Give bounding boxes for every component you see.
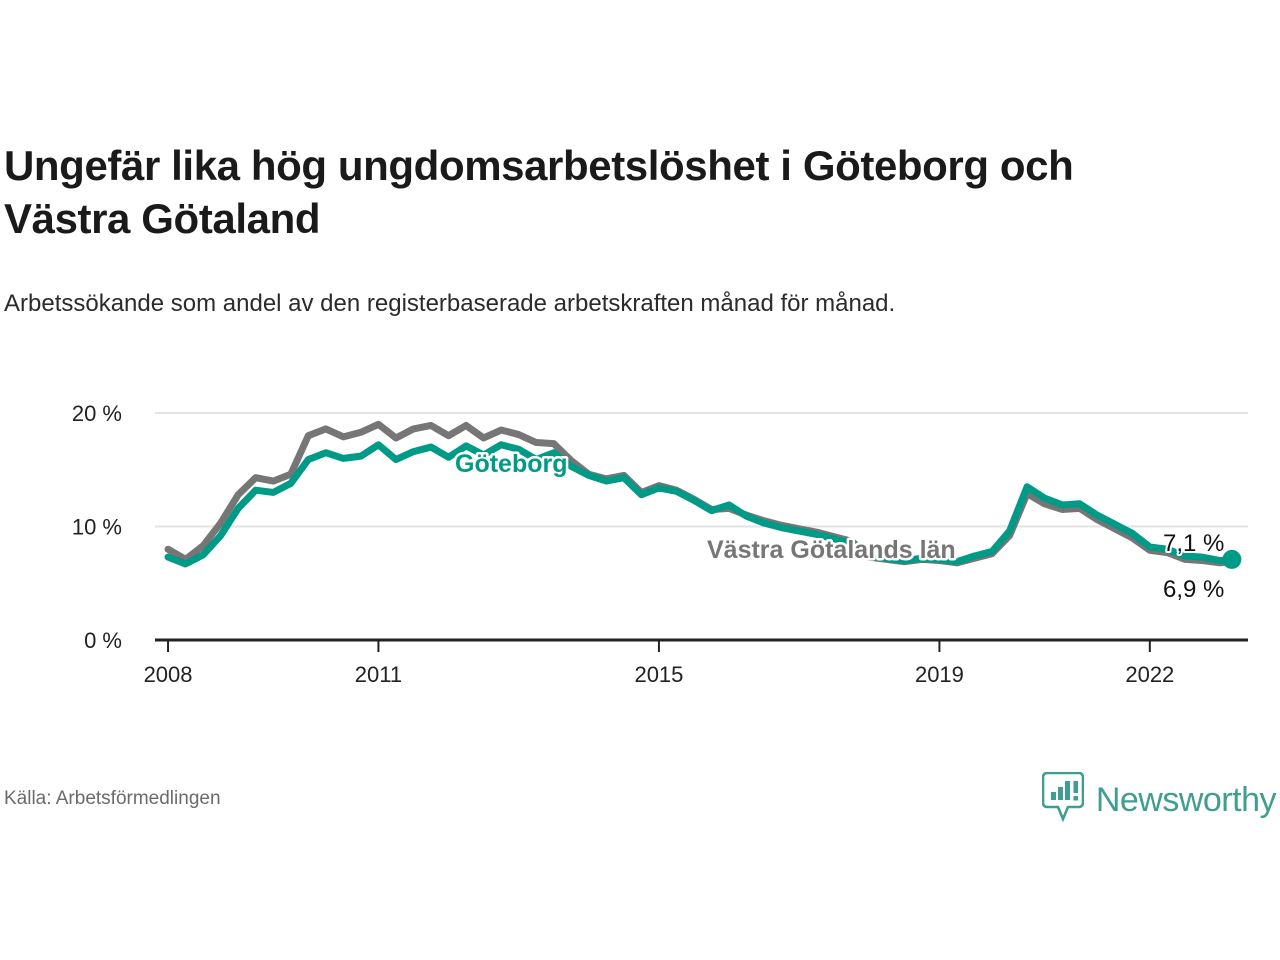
brand-logo[interactable]: Newsworthy (1042, 772, 1276, 829)
y-axis-tick-label: 20 % (72, 401, 122, 426)
y-axis-tick-label: 0 % (84, 628, 122, 653)
endpoint-marker (1222, 550, 1241, 569)
source-note: Källa: Arbetsförmedlingen (4, 788, 221, 810)
chart-page: Ungefär lika hög ungdomsarbetslöshet i G… (0, 0, 1280, 960)
page-title: Ungefär lika hög ungdomsarbetslöshet i G… (4, 140, 1154, 245)
x-axis-tick-label: 2022 (1125, 662, 1174, 687)
x-axis-tick-label: 2015 (634, 662, 683, 687)
y-axis-tick-labels: 0 %10 %20 % (72, 401, 122, 653)
end-value-label-vastra-gotalands-lan: 6,9 % (1163, 576, 1224, 603)
speech-bubble-bar-chart-icon (1042, 772, 1084, 829)
endpoint-dot (1222, 550, 1241, 569)
end-value-label-goteborg: 7,1 % (1163, 530, 1224, 557)
x-axis-tick-labels: 20082011201520192022 (144, 662, 1175, 687)
x-axis-tick-label: 2008 (144, 662, 193, 687)
series-lines (168, 424, 1232, 564)
page-subtitle: Arbetssökande som andel av den registerb… (4, 288, 1184, 320)
line-chart: 0 %10 %20 % 20082011201520192022 Götebor… (0, 395, 1280, 695)
x-axis-tick-label: 2019 (915, 662, 964, 687)
series-line (168, 424, 1232, 562)
x-axis (155, 640, 1248, 652)
series-line (168, 445, 1232, 564)
series-label-vastra-gotalands-lan: Västra Götalands län (707, 536, 956, 564)
chart-container: 0 %10 %20 % 20082011201520192022 Götebor… (0, 395, 1280, 695)
series-label-goteborg: Göteborg (455, 450, 568, 478)
y-axis-tick-label: 10 % (72, 515, 122, 540)
brand-wordmark: Newsworthy (1096, 781, 1276, 820)
x-axis-tick-label: 2011 (355, 662, 402, 687)
